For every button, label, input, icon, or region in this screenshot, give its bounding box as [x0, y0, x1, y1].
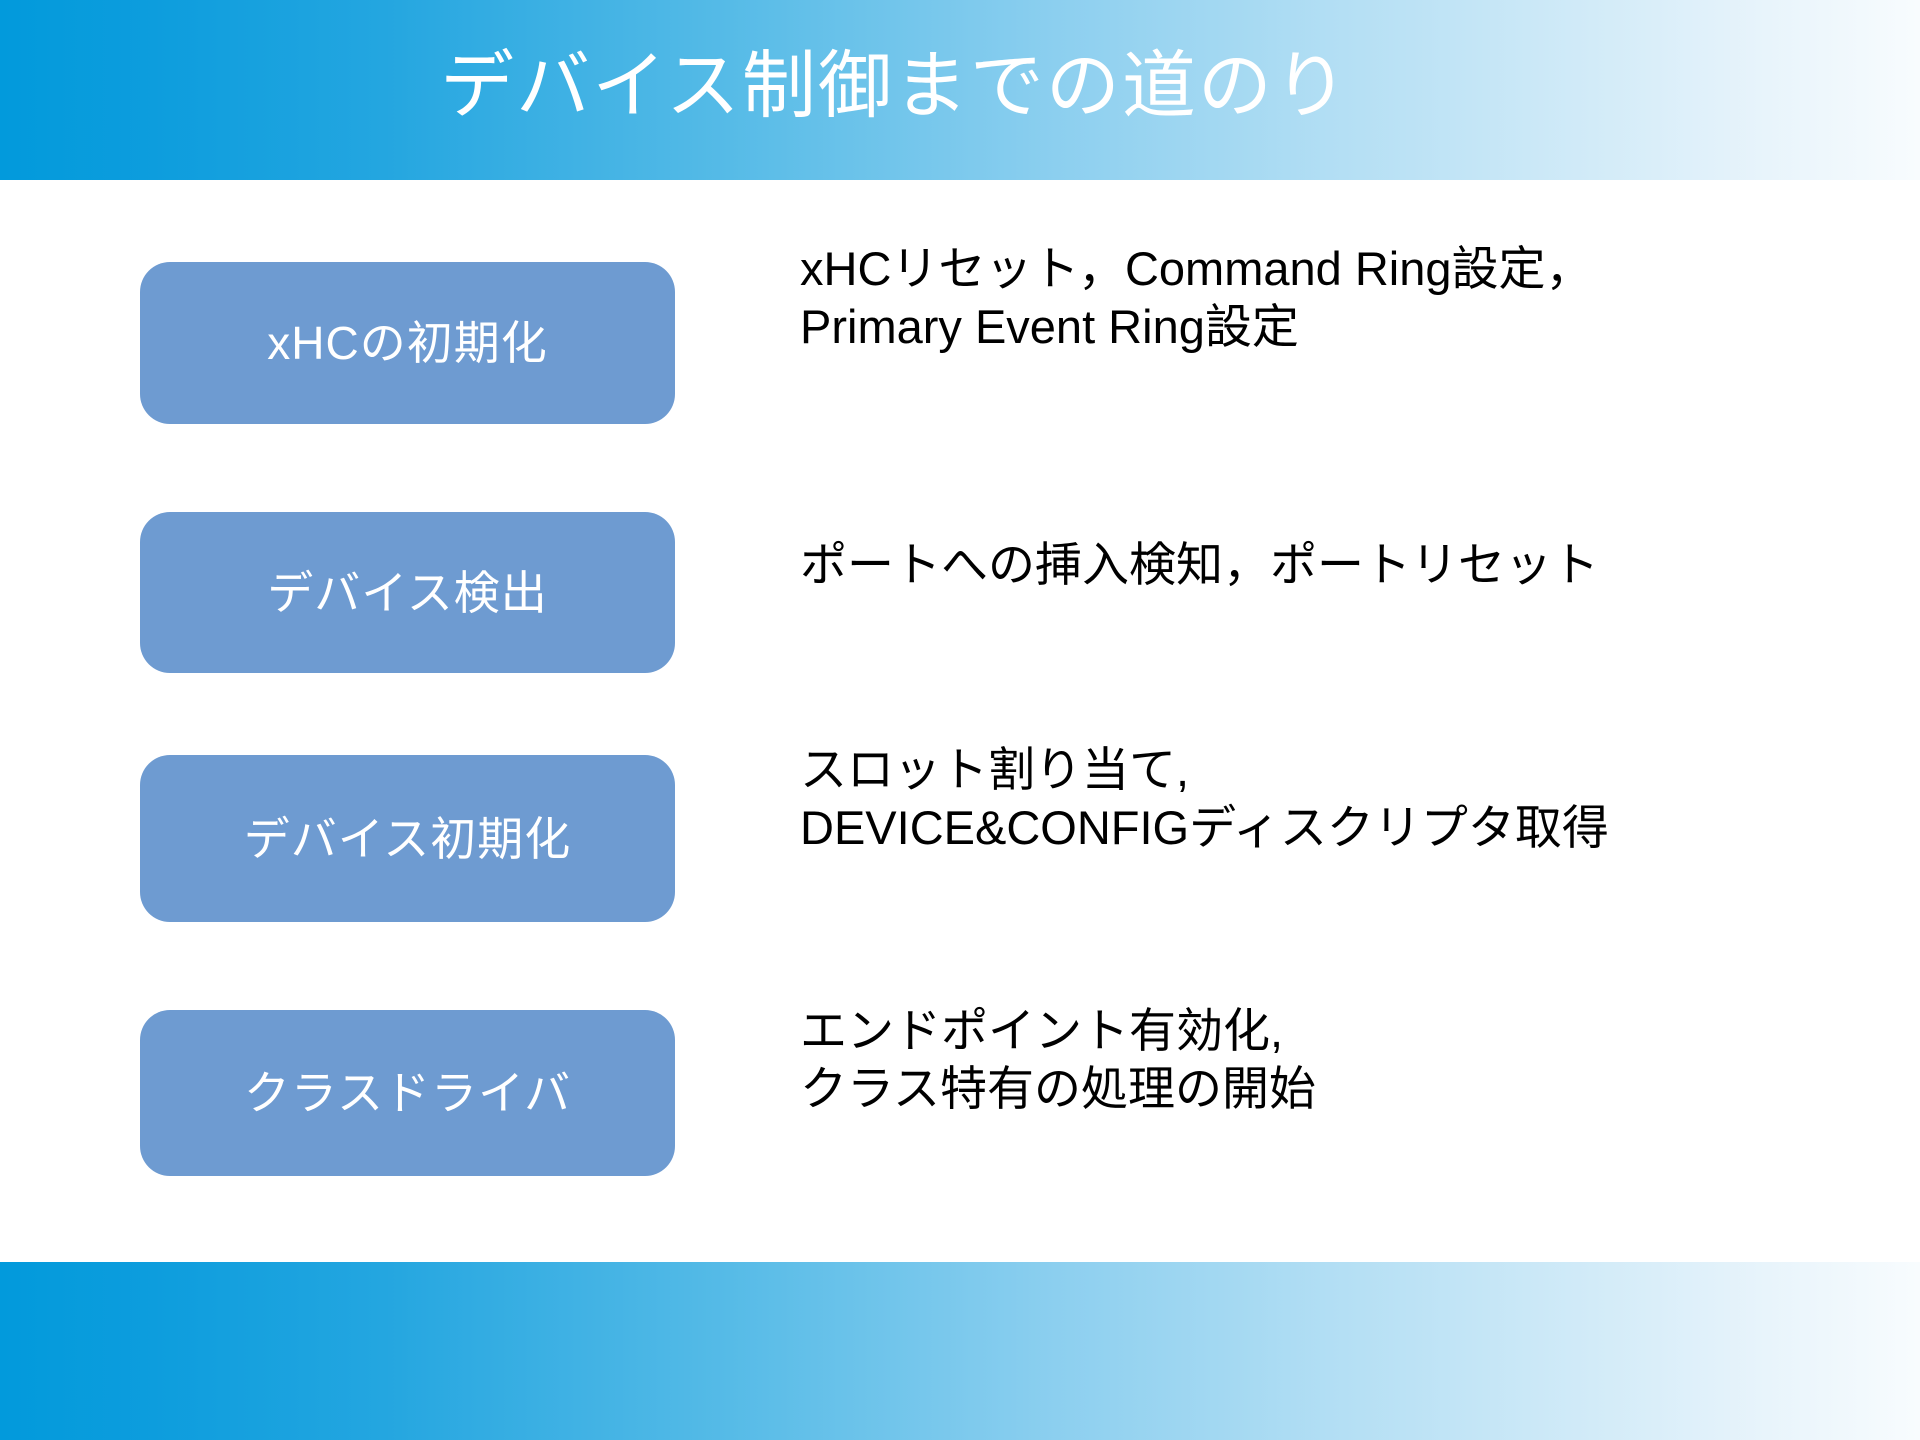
slide: デバイス制御までの道のり xHCの初期化 xHCリセット，Command Rin… [0, 0, 1920, 1440]
description-line: Primary Event Ring設定 [800, 298, 1890, 356]
step-box-class-driver[interactable]: クラスドライバ [140, 1010, 675, 1176]
step-description-class-driver: エンドポイント有効化, クラス特有の処理の開始 [800, 1002, 1890, 1118]
step-box-device-detect[interactable]: デバイス検出 [140, 512, 675, 673]
bottom-decorative-band [0, 1262, 1920, 1440]
description-line: xHCリセット，Command Ring設定， [800, 240, 1890, 298]
description-line: スロット割り当て, [800, 741, 1890, 799]
step-description-device-init: スロット割り当て, DEVICE&CONFIGディスクリプタ取得 [800, 741, 1890, 857]
step-description-device-detect: ポートへの挿入検知，ポートリセット [800, 536, 1890, 594]
step-box-xhc-init[interactable]: xHCの初期化 [140, 262, 675, 424]
step-row: デバイス初期化 スロット割り当て, DEVICE&CONFIGディスクリプタ取得 [0, 733, 1920, 938]
page-title: デバイス制御までの道のり [0, 38, 1920, 134]
step-row: クラスドライバ エンドポイント有効化, クラス特有の処理の開始 [0, 988, 1920, 1193]
description-line: クラス特有の処理の開始 [800, 1060, 1890, 1118]
description-line: エンドポイント有効化, [800, 1002, 1890, 1060]
description-line: ポートへの挿入検知，ポートリセット [800, 536, 1890, 594]
step-row: デバイス検出 ポートへの挿入検知，ポートリセット [0, 490, 1920, 690]
slide-body: xHCの初期化 xHCリセット，Command Ring設定， Primary … [0, 180, 1920, 1262]
step-row: xHCの初期化 xHCリセット，Command Ring設定， Primary … [0, 240, 1920, 440]
step-box-device-init[interactable]: デバイス初期化 [140, 755, 675, 922]
description-line: DEVICE&CONFIGディスクリプタ取得 [800, 799, 1890, 857]
step-description-xhc-init: xHCリセット，Command Ring設定， Primary Event Ri… [800, 240, 1890, 356]
